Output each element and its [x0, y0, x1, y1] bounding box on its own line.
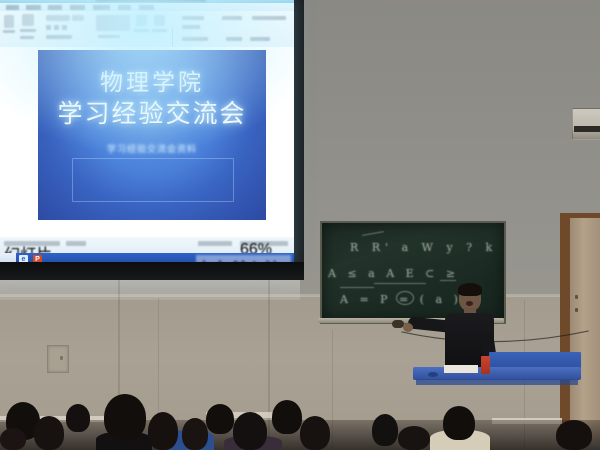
audience-head	[66, 404, 90, 432]
speaker-hair	[458, 283, 482, 296]
audience-head	[398, 426, 430, 450]
ribbon-align-icons[interactable]	[46, 35, 72, 39]
ribbon-arrange-icon[interactable]	[136, 15, 147, 26]
ribbon-select-label[interactable]	[182, 37, 208, 41]
drink-can[interactable]	[481, 356, 490, 374]
ribbon-find-label[interactable]	[182, 16, 204, 20]
tab-transitions[interactable]	[93, 5, 110, 10]
status-language	[66, 241, 86, 246]
audience-head	[372, 414, 398, 446]
chalk-underline-1	[374, 283, 426, 284]
audience-head	[272, 400, 302, 434]
chalk-stroke-1	[440, 280, 456, 281]
ribbon-quickstyles-label	[152, 29, 167, 32]
audience-head	[104, 394, 146, 440]
podium-front-face	[416, 379, 578, 385]
chalk-note-line-2: A ≤ a A E ⊂ ≥	[328, 267, 459, 280]
audience-head	[556, 420, 592, 450]
ribbon-layout-label	[20, 36, 34, 39]
door-hinge-lower	[575, 308, 578, 312]
ribbon-italic-icon[interactable]	[54, 25, 59, 30]
slide-content-placeholder[interactable]	[72, 158, 234, 202]
chalk-underline-2	[340, 287, 374, 288]
ribbon-newslide-label	[20, 29, 36, 32]
ribbon-arrange-label	[134, 29, 149, 32]
tab-file[interactable]	[6, 5, 19, 10]
podium-cable-hole	[428, 372, 438, 377]
ribbon-shapes-gallery[interactable]	[96, 15, 130, 31]
speaker-mouth	[466, 301, 473, 306]
chalk-note-line-1: R R' a W y ? k	[350, 241, 497, 254]
ribbon-paste-label	[3, 30, 15, 33]
tab-animations[interactable]	[118, 5, 131, 10]
ribbon-fontsize-box[interactable]	[72, 15, 84, 21]
audience-head	[182, 418, 208, 450]
ribbon-group-label-3	[226, 37, 242, 41]
ribbon-bold-icon[interactable]	[46, 25, 51, 30]
ribbon-newslide-icon[interactable]	[22, 14, 34, 26]
chalk-stroke-2	[362, 231, 384, 236]
audience-head	[148, 412, 178, 450]
presentation-slide[interactable]: 物理学院 学习经验交流会 学习经验交流会资料	[38, 50, 266, 220]
screen-surface: 物理学院学习经验交流会 - PowerPoint	[0, 0, 294, 268]
powerpoint-window-title: 物理学院学习经验交流会 - PowerPoint	[96, 0, 206, 2]
tab-insert[interactable]	[48, 5, 62, 10]
lecture-hall-photo: 物理学院学习经验交流会 - PowerPoint	[0, 0, 600, 450]
wall-air-conditioner	[572, 108, 600, 140]
ribbon-group-label-1	[222, 16, 242, 20]
audience-head	[233, 412, 267, 450]
paper-sheet[interactable]	[444, 365, 478, 373]
ribbon-font-box[interactable]	[46, 15, 70, 21]
powerpoint-ribbon[interactable]	[0, 11, 294, 48]
audience-head	[206, 404, 234, 434]
door-hinge-upper	[575, 295, 578, 299]
powerpoint-ribbon-tabs[interactable]	[0, 3, 294, 11]
tab-slideshow[interactable]	[139, 5, 154, 10]
ribbon-paste-icon[interactable]	[4, 15, 14, 28]
blackboard: R R' a W y ? k A ≤ a A E ⊂ ≥ A = P = ( a…	[320, 221, 506, 324]
audience-head	[443, 406, 475, 440]
screen-lower-casing	[0, 262, 304, 280]
status-slide-counter: 幻灯片 第 1 张，共 12 张	[4, 241, 60, 246]
powerpoint-status-bar: 幻灯片 第 1 张，共 12 张 66%	[0, 237, 294, 253]
audience-head	[0, 428, 26, 450]
ribbon-shapes-label	[98, 35, 120, 38]
slide-subtitle: 学习经验交流会资料	[38, 142, 266, 155]
audience-head	[300, 416, 330, 450]
slide-title-block: 物理学院 学习经验交流会	[38, 72, 266, 126]
wall-switch-plate[interactable]	[47, 345, 69, 373]
slide-title-line-2: 学习经验交流会	[38, 101, 266, 126]
speaker-left-hand	[403, 323, 413, 332]
tab-home[interactable]	[26, 5, 41, 10]
projection-screen: 物理学院学习经验交流会 - PowerPoint	[0, 0, 304, 280]
air-conditioner-vent	[574, 126, 600, 132]
status-view-buttons[interactable]	[198, 241, 232, 246]
chalk-circle	[396, 291, 414, 305]
ribbon-underline-icon[interactable]	[62, 25, 67, 30]
ribbon-replace-label[interactable]	[182, 25, 200, 29]
ribbon-quickstyles-icon[interactable]	[154, 15, 165, 26]
ribbon-group-label-4	[250, 37, 270, 41]
slide-title-line-1: 物理学院	[38, 72, 266, 95]
ribbon-group-label-2	[252, 16, 286, 20]
tab-design[interactable]	[70, 5, 85, 10]
audience-head	[34, 416, 64, 450]
status-zoom-level[interactable]: 66%	[240, 241, 288, 246]
